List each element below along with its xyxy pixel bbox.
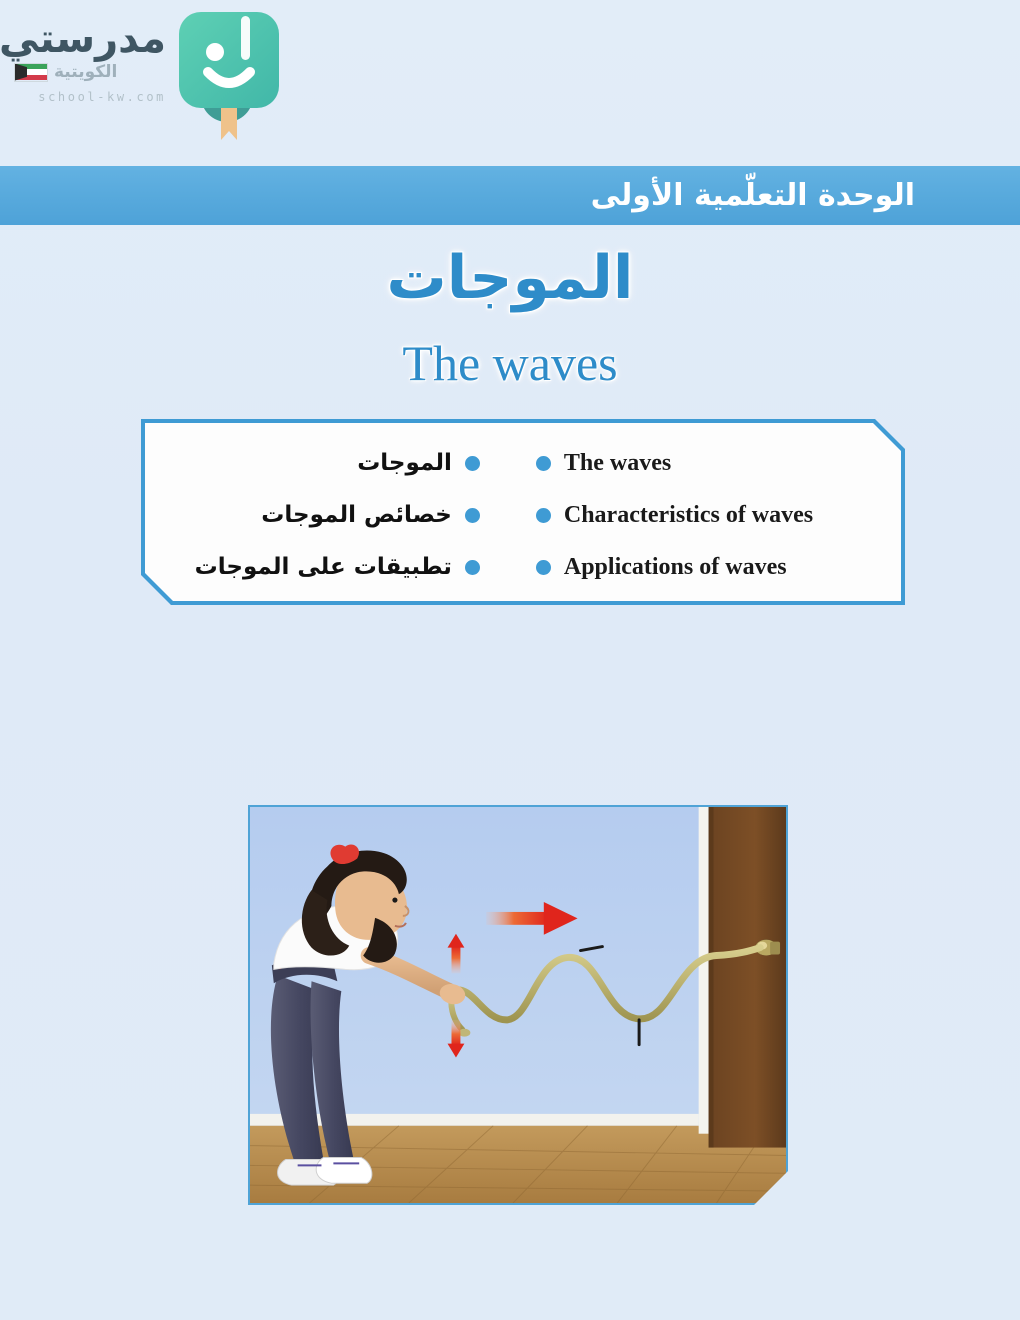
lesson-outline-card-inner: الموجات The waves خصائص الموجات Characte… bbox=[145, 423, 901, 601]
bullet-icon bbox=[536, 456, 551, 471]
page-title-english: The waves bbox=[0, 334, 1020, 392]
bullet-icon bbox=[465, 456, 480, 471]
kuwait-flag-icon bbox=[14, 63, 48, 82]
outline-item-arabic-0[interactable]: الموجات bbox=[145, 450, 508, 476]
bullet-icon bbox=[536, 508, 551, 523]
lesson-outline-card: الموجات The waves خصائص الموجات Characte… bbox=[141, 419, 905, 605]
lesson-outline-list: الموجات The waves خصائص الموجات Characte… bbox=[145, 423, 901, 601]
outline-label-arabic: تطبيقات على الموجات bbox=[195, 554, 452, 580]
bullet-icon bbox=[536, 560, 551, 575]
page-title-arabic: الموجات bbox=[0, 248, 1020, 308]
logo-name-arabic: مدرستي bbox=[14, 18, 166, 60]
outline-label-arabic: خصائص الموجات bbox=[261, 502, 452, 528]
lesson-figure-photo bbox=[248, 805, 788, 1205]
logo-website-url[interactable]: school-kw.com bbox=[14, 90, 166, 104]
outline-item-english-1[interactable]: Characteristics of waves bbox=[508, 502, 901, 529]
outline-label-english: The waves bbox=[564, 450, 671, 477]
bullet-icon bbox=[465, 560, 480, 575]
unit-banner: الوحدة التعلّمية الأولى bbox=[0, 166, 1020, 225]
rope-wave-illustration bbox=[250, 807, 786, 1203]
outline-item-english-0[interactable]: The waves bbox=[508, 450, 901, 477]
bullet-icon bbox=[465, 508, 480, 523]
list-item[interactable]: خصائص الموجات Characteristics of waves bbox=[145, 489, 901, 541]
list-item[interactable]: تطبيقات على الموجات Applications of wave… bbox=[145, 541, 901, 593]
logo-text-block: مدرستي الكويتية school-kw.com bbox=[14, 18, 166, 104]
logo-subtitle-row: الكويتية bbox=[14, 62, 166, 82]
logo-subtitle-arabic: الكويتية bbox=[54, 62, 117, 82]
site-logo[interactable]: مدرستي الكويتية school-kw.com bbox=[14, 4, 304, 144]
outline-label-english: Characteristics of waves bbox=[564, 502, 813, 529]
outline-label-arabic: الموجات bbox=[357, 450, 452, 476]
unit-banner-label: الوحدة التعلّمية الأولى bbox=[591, 178, 915, 213]
list-item[interactable]: الموجات The waves bbox=[145, 437, 901, 489]
outline-item-arabic-1[interactable]: خصائص الموجات bbox=[145, 502, 508, 528]
smiley-bookmark-logo-icon bbox=[177, 10, 281, 142]
outline-item-english-2[interactable]: Applications of waves bbox=[508, 554, 901, 581]
outline-label-english: Applications of waves bbox=[564, 554, 787, 581]
outline-item-arabic-2[interactable]: تطبيقات على الموجات bbox=[145, 554, 508, 580]
